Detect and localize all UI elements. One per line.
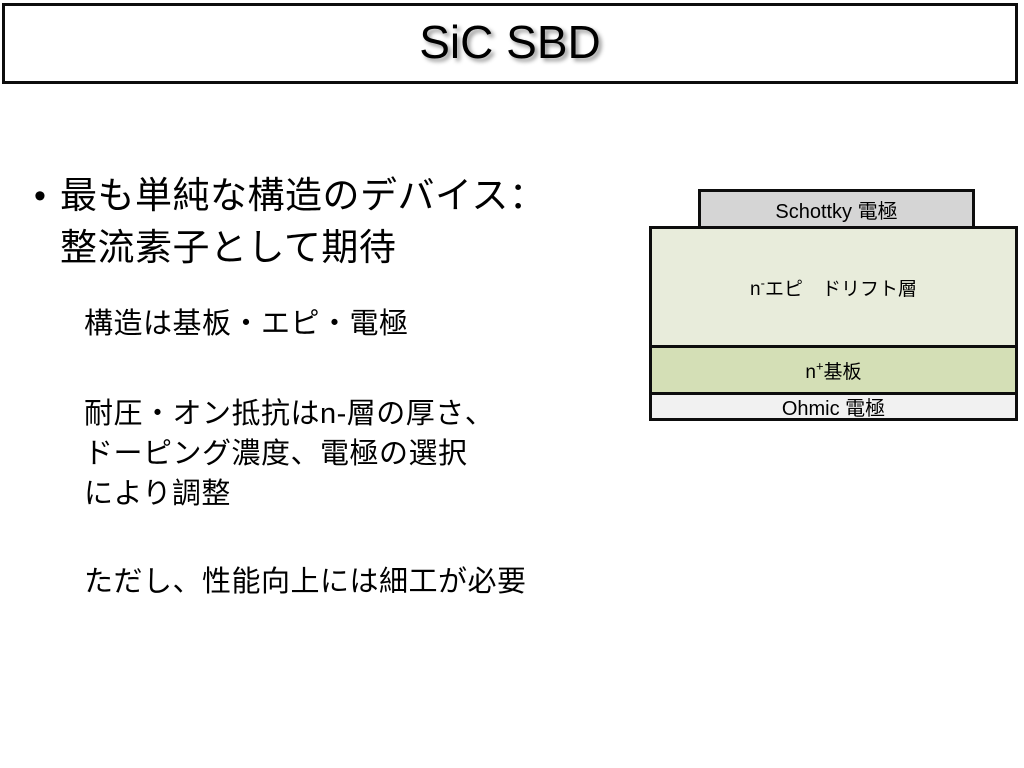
page-title: SiC SBD — [419, 19, 600, 65]
diagram-layer-schottky-electrode: Schottky 電極 — [698, 189, 975, 229]
sub-paragraph-structure: 構造は基板・エピ・電極 — [0, 304, 660, 344]
layer-label-n-minus-epi-drift: n-エピ ドリフト層 — [750, 274, 917, 301]
sub-paragraph-note: ただし、性能向上には細工が必要 — [0, 562, 660, 602]
layer-label-ohmic-electrode: Ohmic 電極 — [782, 392, 885, 421]
diagram-layer-n-plus-substrate: n+基板 — [649, 345, 1018, 395]
bullet-point-icon: • — [34, 170, 60, 222]
layer-label-n-plus-substrate: n+基板 — [805, 357, 861, 384]
main-bullet-item: • 最も単純な構造のデバイス： 整流素子として期待 — [0, 170, 660, 274]
layer-label-schottky-electrode: Schottky 電極 — [775, 195, 897, 224]
main-bullet-text: 最も単純な構造のデバイス： 整流素子として期待 — [60, 170, 546, 274]
sic-sbd-cross-section-diagram: Schottky 電極 n-エピ ドリフト層 n+基板 Ohmic 電極 — [646, 189, 1018, 421]
slide-title-bar: SiC SBD — [2, 3, 1018, 84]
diagram-layer-ohmic-electrode: Ohmic 電極 — [649, 392, 1018, 421]
slide-body-text: • 最も単純な構造のデバイス： 整流素子として期待 構造は基板・エピ・電極 耐圧… — [0, 170, 660, 602]
diagram-layer-n-minus-epi-drift: n-エピ ドリフト層 — [649, 226, 1018, 348]
sub-paragraph-breakdown-voltage: 耐圧・オン抵抗はn-層の厚さ、 ドーピング濃度、電極の選択 により調整 — [0, 394, 660, 514]
